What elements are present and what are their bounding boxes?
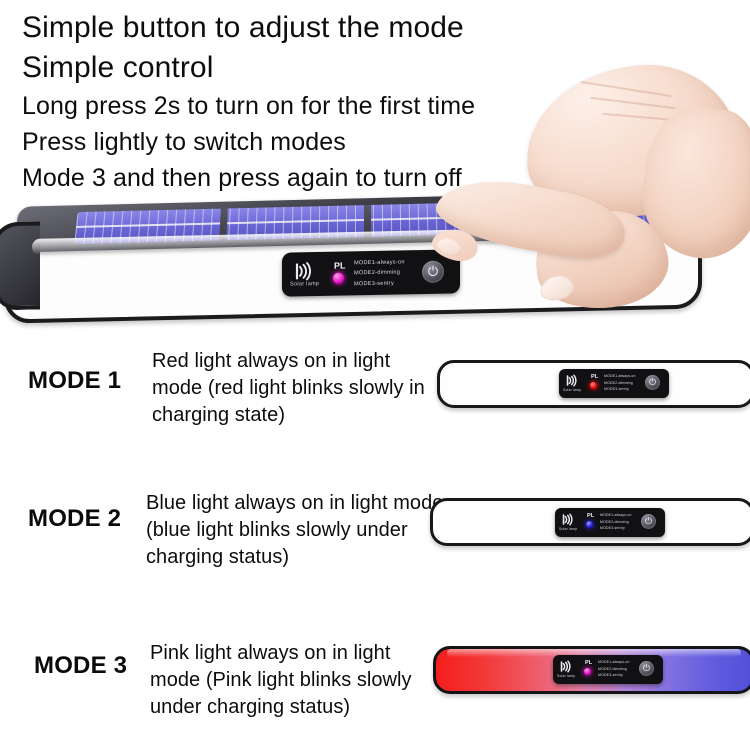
- mode-legend-item-2: MODE2-dimming: [604, 380, 636, 387]
- mode-2-lamp: Solar lamp PL MODE1-always-on MODE2-dimm…: [430, 498, 750, 546]
- hero-lamp-left-cap: [0, 221, 40, 310]
- mode-3-label: MODE 3: [34, 652, 127, 680]
- mode-3-description: Pink light always on in light mode (Pink…: [150, 640, 440, 721]
- mode-2-description: Blue light always on in light mode (blue…: [146, 490, 446, 571]
- infographic-canvas: Simple button to adjust the mode Simple …: [0, 0, 750, 750]
- power-icon: ⏻: [645, 376, 660, 388]
- mode-legend-item-2: MODE2-dimming: [600, 519, 632, 526]
- power-icon: ⏻: [641, 515, 656, 527]
- status-led: [333, 273, 344, 284]
- status-led: [586, 521, 593, 528]
- brand-label: PL: [585, 660, 592, 666]
- mode-legend-item-2: MODE2-dimming: [354, 268, 405, 279]
- mode-3-lamp: Solar lamp PL MODE1-always-on MODE2-dimm…: [433, 646, 750, 694]
- mode-2-control-panel[interactable]: Solar lamp PL MODE1-always-on MODE2-dimm…: [555, 508, 665, 537]
- solar-lamp-label: Solar lamp: [563, 388, 581, 392]
- mode-legend-item-3: MODE3-sentry: [604, 386, 636, 393]
- mode-1-description: Red light always on in light mode (red l…: [152, 348, 442, 429]
- mode-legend: MODE1-always-on MODE2-dimming MODE3-sent…: [604, 373, 636, 393]
- brand-label: PL: [334, 260, 346, 270]
- power-icon: ⏻: [639, 662, 654, 674]
- brand-label: PL: [591, 374, 598, 380]
- brand-label: PL: [587, 513, 594, 519]
- mode-legend-item-1: MODE1-always-on: [598, 659, 630, 666]
- instruction-line-1: Long press 2s to turn on for the first t…: [22, 88, 582, 124]
- status-led: [590, 382, 597, 389]
- mode-3-control-panel[interactable]: Solar lamp PL MODE1-always-on MODE2-dimm…: [553, 655, 663, 684]
- headline-secondary: Simple control: [22, 48, 582, 88]
- mode-legend-item-1: MODE1-always-on: [604, 373, 636, 380]
- power-button[interactable]: ⏻: [641, 514, 656, 529]
- mode-legend-item-3: MODE3-sentry: [598, 672, 630, 679]
- status-led: [584, 668, 591, 675]
- instruction-line-3: Mode 3 and then press again to turn off: [22, 160, 582, 196]
- mode-legend-item-3: MODE3-sentry: [600, 525, 632, 532]
- mode-legend: MODE1-always-on MODE2-dimming MODE3-sent…: [600, 512, 632, 532]
- mode-1-control-panel[interactable]: Solar lamp PL MODE1-always-on MODE2-dimm…: [559, 369, 669, 398]
- power-button[interactable]: ⏻: [645, 375, 660, 390]
- mode-legend-item-3: MODE3-sentry: [354, 278, 405, 289]
- solar-lamp-label: Solar lamp: [557, 674, 575, 678]
- mode-2-label: MODE 2: [28, 505, 121, 533]
- instruction-line-2: Press lightly to switch modes: [22, 124, 582, 160]
- power-button[interactable]: ⏻: [639, 661, 654, 676]
- mode-1-label: MODE 1: [28, 367, 121, 395]
- mode-legend-item-2: MODE2-dimming: [598, 666, 630, 673]
- headline-primary: Simple button to adjust the mode: [22, 8, 582, 48]
- mode-legend: MODE1-always-on MODE2-dimming MODE3-sent…: [598, 659, 630, 679]
- mode-legend: MODE1-always-on MODE2-dimming MODE3-sent…: [354, 257, 405, 289]
- solar-lamp-label: Solar lamp: [559, 527, 577, 531]
- solar-lamp-label: Solar lamp: [290, 281, 319, 288]
- mode-legend-item-1: MODE1-always-on: [600, 512, 632, 519]
- heading-block: Simple button to adjust the mode Simple …: [22, 8, 582, 196]
- mode-1-lamp: Solar lamp PL MODE1-always-on MODE2-dimm…: [437, 360, 750, 408]
